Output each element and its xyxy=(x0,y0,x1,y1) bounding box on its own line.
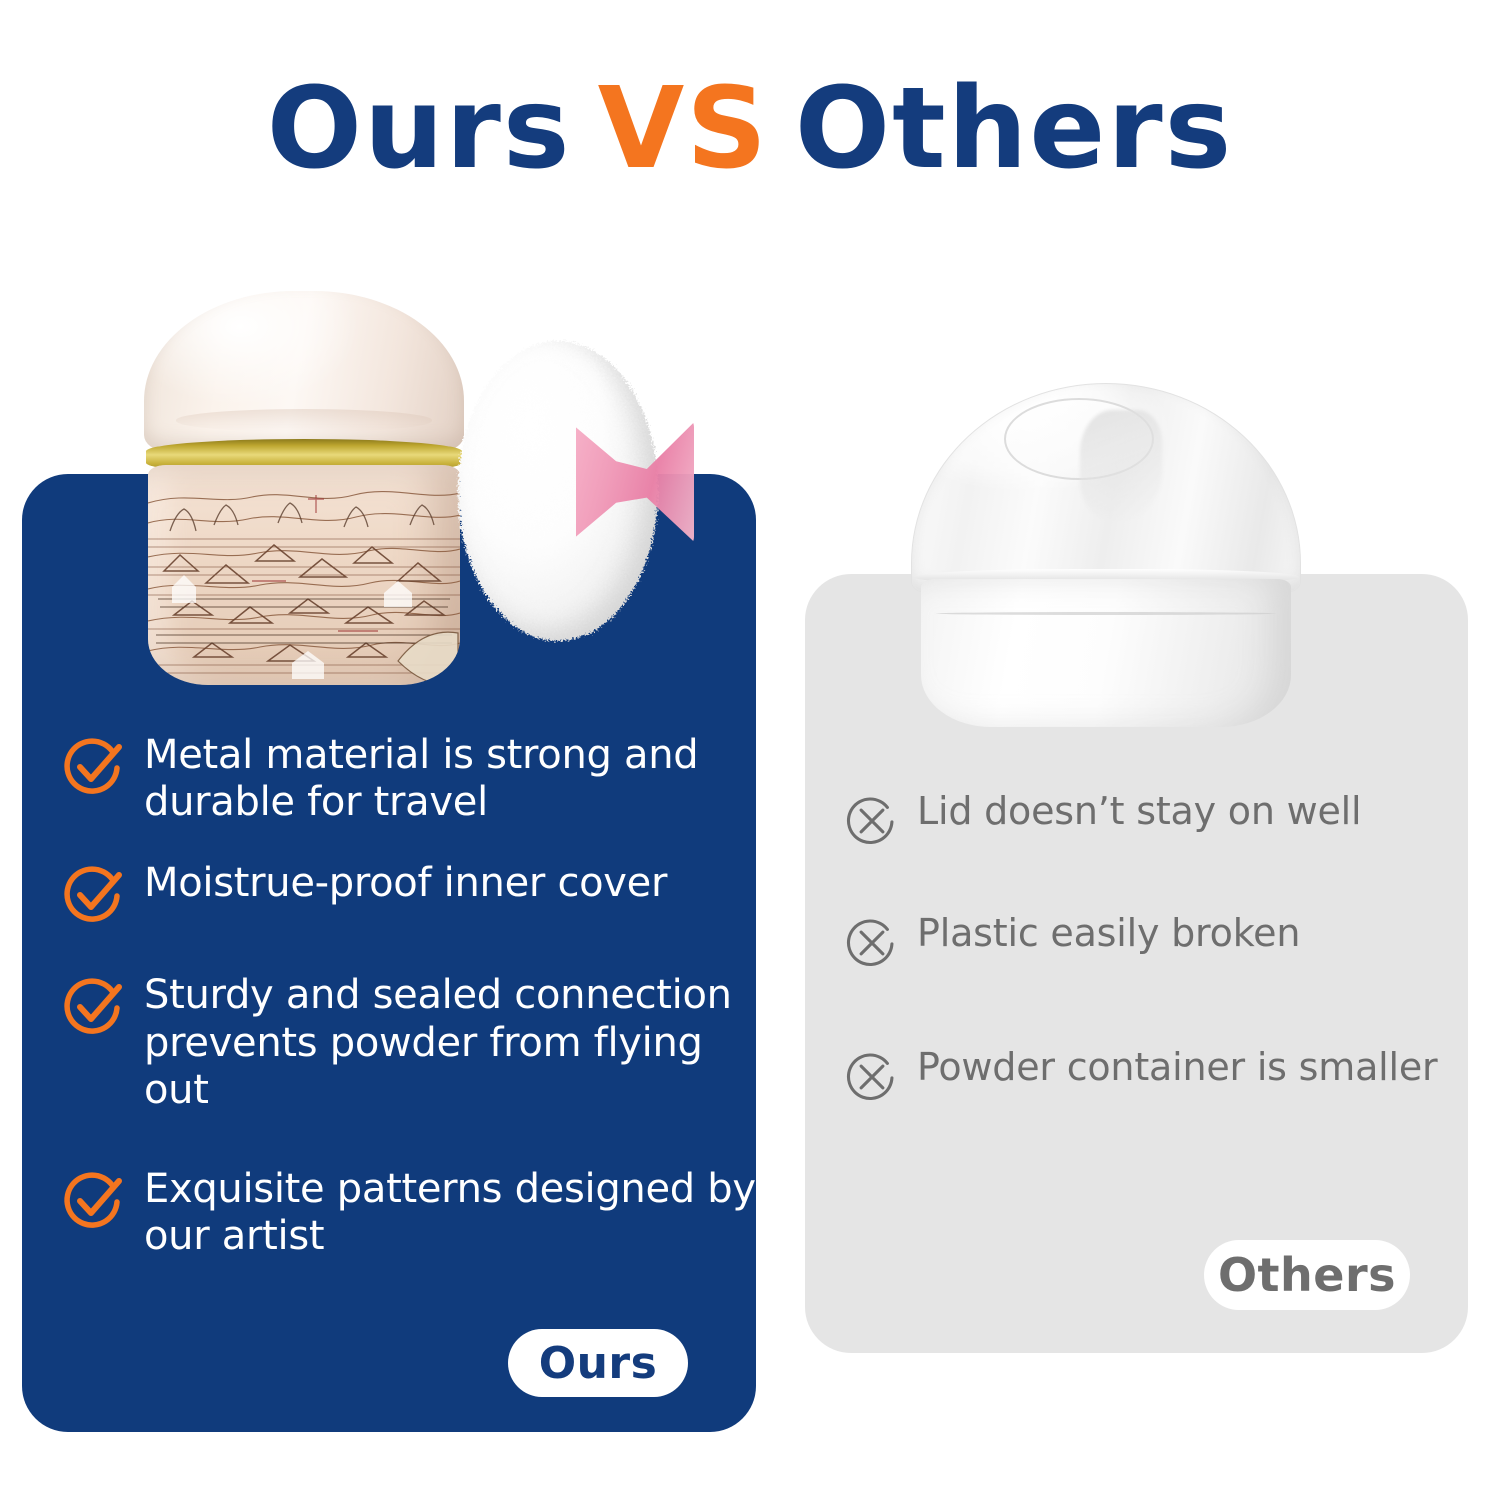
list-item: Exquisite patterns designed by our artis… xyxy=(62,1166,762,1260)
ours-product-image xyxy=(128,283,728,693)
others-feature-list: Lid doesn’t stay on well Plastic easily … xyxy=(843,790,1453,1106)
others-badge: Others xyxy=(1204,1240,1410,1310)
title-ours-word: Ours xyxy=(267,64,572,194)
powder-puff xyxy=(458,341,688,641)
clear-dome-lid xyxy=(911,383,1301,593)
list-item-label: Moistrue-proof inner cover xyxy=(144,860,762,907)
page-title: OursVSOthers xyxy=(0,68,1500,191)
list-item: Moistrue-proof inner cover xyxy=(62,860,762,926)
list-item-label: Exquisite patterns designed by our artis… xyxy=(144,1166,762,1260)
x-circle-icon xyxy=(843,1048,901,1106)
list-item-label: Metal material is strong and durable for… xyxy=(144,732,762,826)
title-vs-word: VS xyxy=(598,64,769,194)
list-item: Powder container is smaller xyxy=(843,1046,1453,1106)
list-item: Plastic easily broken xyxy=(843,912,1453,972)
list-item: Sturdy and sealed connection prevents po… xyxy=(62,972,762,1114)
plastic-container-base xyxy=(921,579,1291,727)
list-item-label: Lid doesn’t stay on well xyxy=(917,790,1453,834)
list-item: Metal material is strong and durable for… xyxy=(62,732,762,826)
dome-inner-reflection xyxy=(1080,410,1162,518)
list-item: Lid doesn’t stay on well xyxy=(843,790,1453,850)
x-circle-icon xyxy=(843,792,901,850)
ours-feature-list: Metal material is strong and durable for… xyxy=(62,732,762,1294)
list-item-label: Powder container is smaller xyxy=(917,1046,1453,1090)
comparison-infographic: OursVSOthers Metal material is strong an… xyxy=(0,0,1500,1500)
check-circle-icon xyxy=(62,974,126,1038)
check-circle-icon xyxy=(62,734,126,798)
check-circle-icon xyxy=(62,862,126,926)
list-item-label: Plastic easily broken xyxy=(917,912,1453,956)
check-circle-icon xyxy=(62,1168,126,1232)
ours-badge: Ours xyxy=(508,1329,688,1397)
jar-body-patterned xyxy=(148,465,460,685)
title-others-word: Others xyxy=(795,64,1233,194)
list-item-label: Sturdy and sealed connection prevents po… xyxy=(144,972,762,1114)
x-circle-icon xyxy=(843,914,901,972)
jar-lid xyxy=(144,291,464,451)
others-product-image xyxy=(885,383,1325,728)
